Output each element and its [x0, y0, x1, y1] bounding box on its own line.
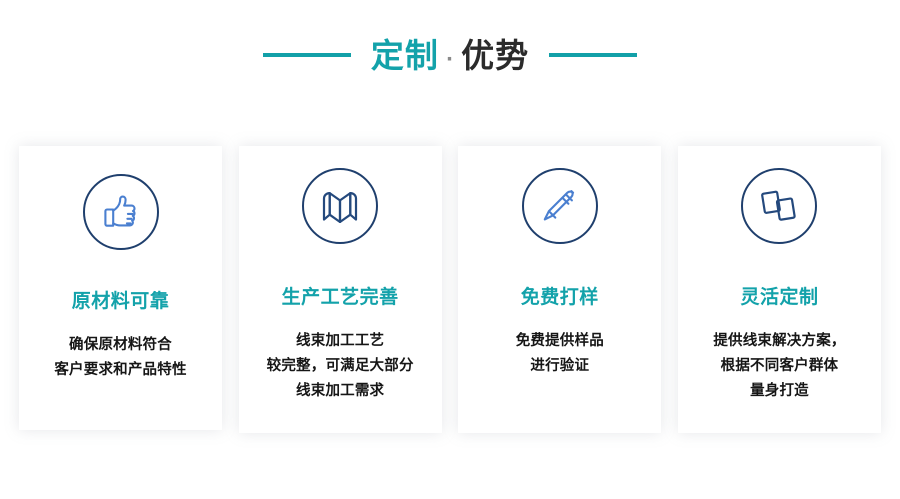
feature-card-title: 原材料可靠	[72, 290, 170, 313]
feature-card-body: 提供线束解决方案， 根据不同客户群体 量身打造	[713, 329, 845, 404]
header-rule-right	[549, 53, 637, 57]
folded-map-icon	[302, 168, 378, 244]
thumbs-up-icon	[83, 174, 159, 250]
feature-card-title: 生产工艺完善	[282, 286, 399, 309]
feature-card-production-process[interactable]: 生产工艺完善 线束加工工艺 较完整，可满足大部分 线束加工需求	[239, 146, 442, 433]
feature-card-list: 原材料可靠 确保原材料符合 客户要求和产品特性 生产工艺完善 线束加工工艺 较完…	[19, 146, 881, 433]
feature-card-title: 免费打样	[521, 286, 599, 309]
feature-card-body-line: 量身打造	[713, 379, 845, 404]
feature-card-flexible-custom[interactable]: 灵活定制 提供线束解决方案， 根据不同客户群体 量身打造	[678, 146, 881, 433]
page-title-secondary: 优势	[461, 39, 529, 72]
feature-card-body-line: 线束加工工艺	[267, 329, 414, 354]
feature-card-body-line: 进行验证	[516, 354, 604, 379]
feature-card-body-line: 提供线束解决方案，	[713, 329, 845, 354]
page-title-separator: ·	[446, 50, 454, 69]
feature-card-body-line: 根据不同客户群体	[713, 354, 845, 379]
header-rule-left	[263, 53, 351, 57]
feature-card-title: 灵活定制	[740, 286, 818, 309]
feature-card-free-sample[interactable]: 免费打样 免费提供样品 进行验证	[458, 146, 661, 433]
feature-card-body: 免费提供样品 进行验证	[516, 329, 604, 379]
page-title-primary: 定制	[371, 39, 439, 72]
pencil-icon	[522, 168, 598, 244]
stacked-cards-icon	[741, 168, 817, 244]
feature-card-body-line: 确保原材料符合	[54, 333, 186, 358]
feature-card-body: 确保原材料符合 客户要求和产品特性	[54, 333, 186, 383]
page-title: 定制 · 优势	[371, 39, 529, 72]
feature-card-body-line: 客户要求和产品特性	[54, 358, 186, 383]
feature-card-body-line: 免费提供样品	[516, 329, 604, 354]
feature-card-raw-material[interactable]: 原材料可靠 确保原材料符合 客户要求和产品特性	[19, 146, 222, 430]
feature-card-body-line: 线束加工需求	[267, 379, 414, 404]
feature-card-body-line: 较完整，可满足大部分	[267, 354, 414, 379]
section-header: 定制 · 优势	[0, 0, 900, 110]
feature-card-body: 线束加工工艺 较完整，可满足大部分 线束加工需求	[267, 329, 414, 404]
